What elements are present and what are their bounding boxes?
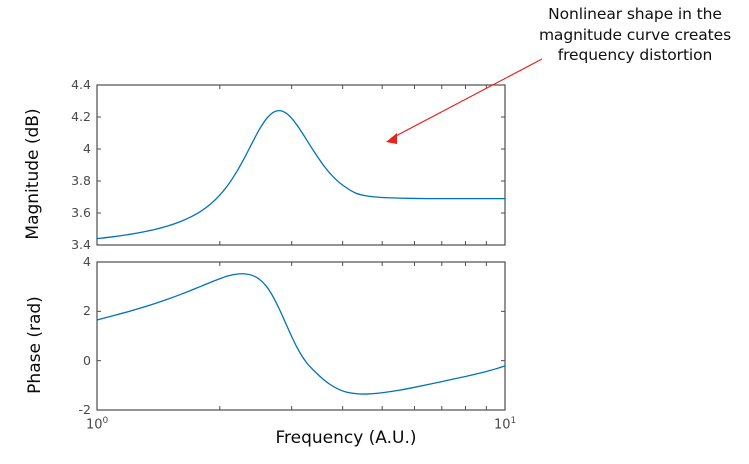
phase-tick-marks xyxy=(97,262,505,410)
phase-ytick-3: 4 xyxy=(45,254,91,269)
magnitude-curve xyxy=(97,111,505,239)
magnitude-ytick-2: 3.8 xyxy=(45,173,91,188)
frequency-xtick-1: 101 xyxy=(494,416,516,432)
magnitude-ytick-1: 3.6 xyxy=(45,205,91,220)
annotation-text: Nonlinear shape in the magnitude curve c… xyxy=(528,4,742,66)
magnitude-tick-marks xyxy=(97,85,505,245)
phase-axis-label: Phase (rad) xyxy=(25,265,45,425)
magnitude-ytick-0: 3.4 xyxy=(45,237,91,252)
phase-curve xyxy=(97,274,505,394)
phase-ytick-0: -2 xyxy=(45,402,91,417)
magnitude-ytick-4: 4.2 xyxy=(45,109,91,124)
bode-plot-figure: Nonlinear shape in the magnitude curve c… xyxy=(0,0,749,464)
phase-ytick-2: 2 xyxy=(45,303,91,318)
phase-ytick-1: 0 xyxy=(45,353,91,368)
magnitude-axis-label: Magnitude (dB) xyxy=(23,79,43,269)
plot-canvas xyxy=(0,0,749,464)
annotation-arrow xyxy=(386,59,542,144)
phase-axes-frame xyxy=(97,262,505,410)
magnitude-axes-frame xyxy=(97,85,505,245)
frequency-xtick-0: 100 xyxy=(86,416,108,432)
frequency-axis-label: Frequency (A.U.) xyxy=(196,428,496,448)
magnitude-ytick-5: 4.4 xyxy=(45,77,91,92)
magnitude-ytick-3: 4 xyxy=(45,141,91,156)
